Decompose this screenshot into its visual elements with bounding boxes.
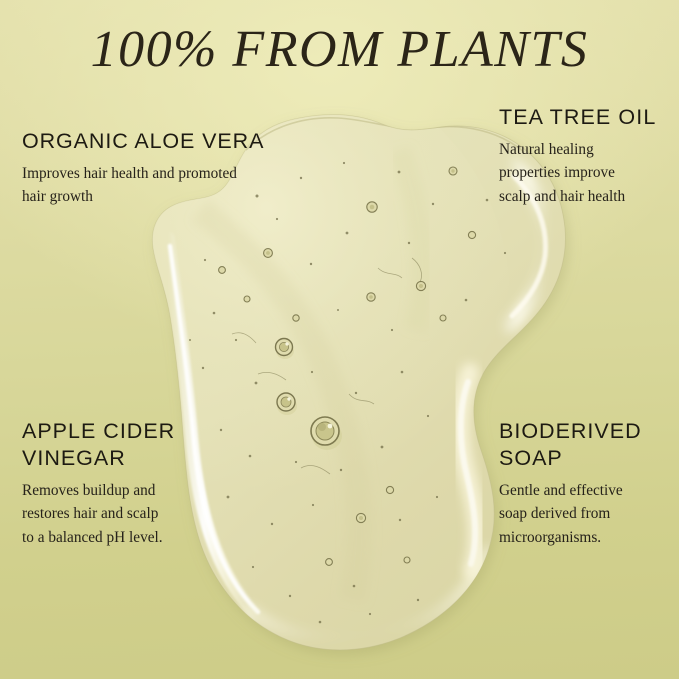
ingredient-heading-soap: BIODERIVED SOAP [499, 418, 677, 472]
gel-blob-graphic [0, 0, 679, 679]
ingredient-body-vinegar: Removes buildup and restores hair and sc… [22, 479, 272, 549]
ingredient-heading-aloe: ORGANIC ALOE VERA [22, 128, 290, 155]
poster-title: 100% FROM PLANTS [0, 20, 679, 79]
ingredient-body-soap: Gentle and effective soap derived from m… [499, 479, 677, 549]
gel-bubbles [189, 162, 506, 623]
gel-blob-svg [0, 0, 679, 679]
ingredient-heading-teatree: TEA TREE OIL [499, 104, 675, 131]
ingredient-block-soap: BIODERIVED SOAP Gentle and effective soa… [499, 418, 677, 549]
ingredient-block-aloe: ORGANIC ALOE VERA Improves hair health a… [22, 128, 290, 209]
ingredient-body-aloe: Improves hair health and promoted hair g… [22, 162, 290, 209]
ingredient-block-teatree: TEA TREE OIL Natural healing properties … [499, 104, 675, 208]
ingredient-block-vinegar: APPLE CIDER VINEGAR Removes buildup and … [22, 418, 272, 549]
ingredient-body-teatree: Natural healing properties improve scalp… [499, 138, 675, 208]
ingredient-heading-vinegar: APPLE CIDER VINEGAR [22, 418, 272, 472]
ingredients-poster: 100% FROM PLANTS ORGANIC ALOE VERA Impro… [0, 0, 679, 679]
